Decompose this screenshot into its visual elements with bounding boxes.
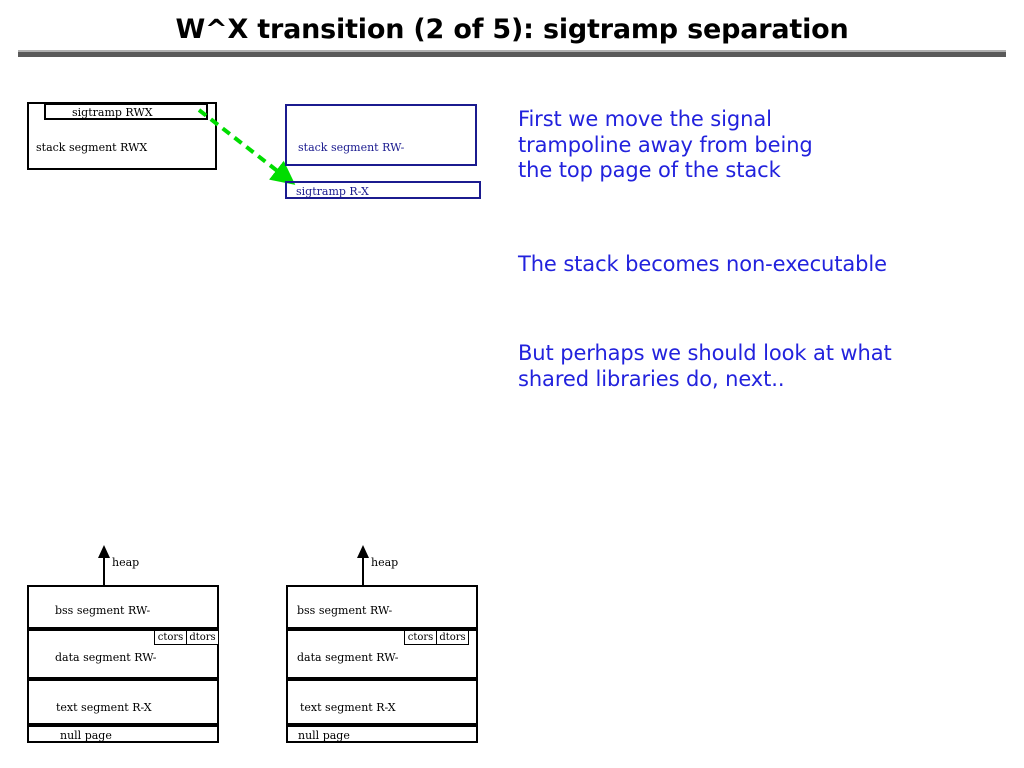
memmap-right-text-label: text segment R-X: [300, 702, 396, 713]
memmap-left-ctors-box: ctors: [154, 630, 187, 645]
memmap-right-null-label: null page: [298, 730, 350, 741]
heap-label-right: heap: [371, 556, 398, 569]
memmap-left-bss-label: bss segment RW-: [55, 605, 150, 616]
memmap-left-data-label: data segment RW-: [55, 652, 156, 663]
page-title: W^X transition (2 of 5): sigtramp separa…: [0, 14, 1024, 45]
memmap-right-data-label: data segment RW-: [297, 652, 398, 663]
memmap-left-text-label: text segment R-X: [56, 702, 152, 713]
heap-label-left: heap: [112, 556, 139, 569]
note-shared-libraries: But perhaps we should look at what share…: [518, 341, 938, 392]
heap-arrow-right-icon: [355, 545, 371, 587]
heap-arrow-left-icon: [96, 545, 112, 587]
memmap-left-null-label: null page: [60, 730, 112, 741]
memmap-right-dtors-box: dtors: [436, 630, 469, 645]
stack-after-sigtramp-label: sigtramp R-X: [296, 186, 369, 197]
memmap-left-dtors-box: dtors: [186, 630, 219, 645]
stack-before-outer-label: stack segment RWX: [36, 142, 147, 153]
note-move-trampoline: First we move the signal trampoline away…: [518, 107, 938, 184]
title-divider: [18, 50, 1006, 57]
stack-after-outer-label: stack segment RW-: [298, 142, 404, 153]
memmap-left-null-box: [27, 725, 219, 743]
memmap-right-bss-label: bss segment RW-: [297, 605, 392, 616]
note-stack-nonexec: The stack becomes non-executable: [518, 252, 938, 278]
memmap-right-ctors-box: ctors: [404, 630, 437, 645]
stack-after-outer-box: [285, 104, 477, 166]
stack-before-sigtramp-label: sigtramp RWX: [72, 107, 153, 118]
